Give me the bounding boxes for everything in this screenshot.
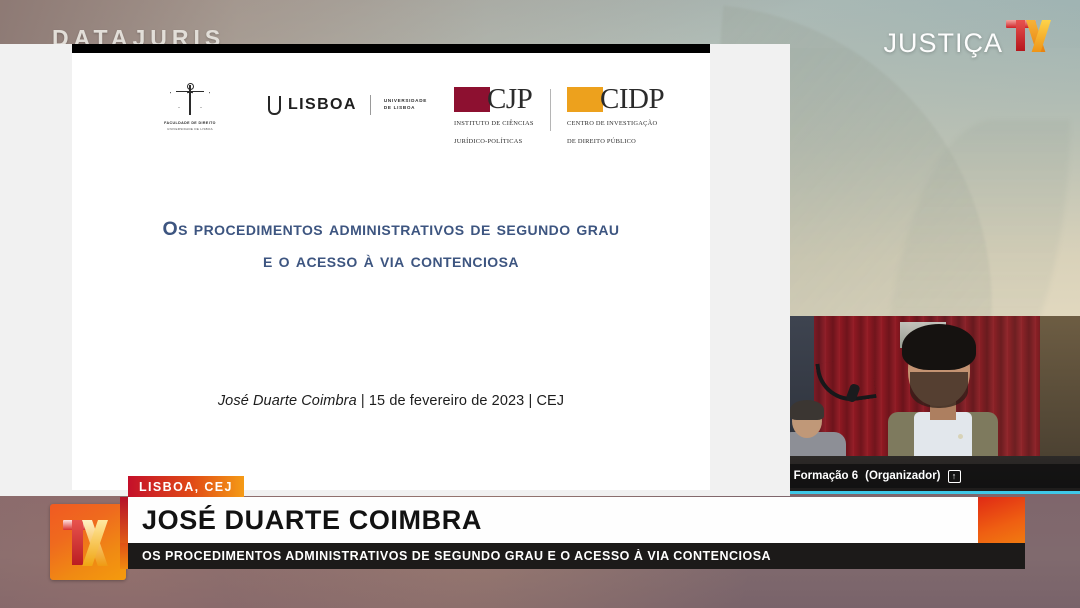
ulisboa-subtext: UNIVERSIDADE DE LISBOA (384, 98, 427, 111)
presentation-slide[interactable]: FACULDADE DE DIREITO UNIVERSIDADE DE LIS… (72, 53, 710, 490)
subtitle-text: OS PROCEDIMENTOS ADMINISTRATIVOS DE SEGU… (142, 549, 771, 563)
ta-channel-logo (50, 504, 126, 580)
slide-title: Os procedimentos administrativos de segu… (90, 213, 692, 277)
name-bar-gradient-tail (978, 497, 1025, 543)
video-wall-right (1040, 316, 1080, 466)
u-mark-icon (268, 96, 281, 115)
subtitle-bar: OS PROCEDIMENTOS ADMINISTRATIVOS DE SEGU… (128, 543, 1025, 569)
location-badge: LISBOA, CEJ (128, 476, 244, 497)
faculdade-direito-logo: FACULDADE DE DIREITO UNIVERSIDADE DE LIS… (134, 83, 246, 131)
ta-monogram-icon (1004, 18, 1060, 52)
slide-title-line2: e o acesso à via contenciosa (90, 245, 692, 277)
ulisboa-logo: LISBOA UNIVERSIDADE DE LISBOA (268, 95, 427, 115)
video-speaker-lapel-pin (958, 434, 963, 439)
slide-logo-row: FACULDADE DE DIREITO UNIVERSIDADE DE LIS… (72, 81, 710, 137)
participant-name-label: CEJ Formação 6 (Organizador) ↑ (790, 464, 1080, 488)
slide-byline-meta: | 15 de fevereiro de 2023 | CEJ (357, 393, 564, 409)
video-second-person-hair (790, 400, 824, 420)
subtitle-bar-accent (120, 543, 128, 569)
pin-arrow-icon[interactable]: ↑ (948, 470, 961, 483)
cidp-logo: CIDP CENTRO DE INVESTIGAÇÃO DE DIREITO P… (567, 87, 664, 148)
faculdade-logo-line1: FACULDADE DE DIREITO (134, 121, 246, 125)
slide-byline: José Duarte Coimbra | 15 de fevereiro de… (90, 393, 692, 409)
name-bar-accent (120, 497, 128, 543)
ta-monogram-icon-large (63, 520, 115, 566)
ulisboa-wordmark: LISBOA (288, 96, 357, 114)
video-speaker-beard (910, 372, 968, 408)
justica-ta-brand-logo: JUSTIÇA (883, 18, 1060, 59)
cidp-subtext: CENTRO DE INVESTIGAÇÃO DE DIREITO PÚBLIC… (567, 120, 657, 145)
speaker-name: JOSÉ DUARTE COIMBRA (142, 505, 482, 536)
slide-title-line1: Os procedimentos administrativos de segu… (90, 213, 692, 245)
logo-divider (370, 95, 371, 115)
participant-name-text: CEJ Formação 6 (790, 470, 858, 482)
icjp-subtext: INSTITUTO DE CIÊNCIAS JURÍDICO-POLÍTICAS (454, 120, 534, 145)
scales-of-justice-icon (173, 83, 207, 117)
video-speaker-hair (902, 324, 976, 370)
participant-role-text: (Organizador) (865, 470, 940, 482)
speaker-name-bar: JOSÉ DUARTE COIMBRA (128, 497, 978, 543)
icjp-acronym: CJP (487, 87, 532, 112)
brand-wordmark: JUSTIÇA (883, 28, 1003, 59)
logo-separator (550, 89, 551, 131)
cidp-color-block (567, 87, 603, 112)
slide-author-name: José Duarte Coimbra (218, 393, 357, 409)
icjp-color-block (454, 87, 490, 112)
cidp-acronym: CIDP (600, 87, 664, 112)
faculdade-logo-line2: UNIVERSIDADE DE LISBOA (134, 127, 246, 131)
slide-letterbox-bar (72, 44, 710, 53)
participant-video-tile[interactable]: CEJ Formação 6 (Organizador) ↑ (790, 316, 1080, 494)
icjp-logo: CJP INSTITUTO DE CIÊNCIAS JURÍDICO-POLÍT… (454, 87, 534, 148)
